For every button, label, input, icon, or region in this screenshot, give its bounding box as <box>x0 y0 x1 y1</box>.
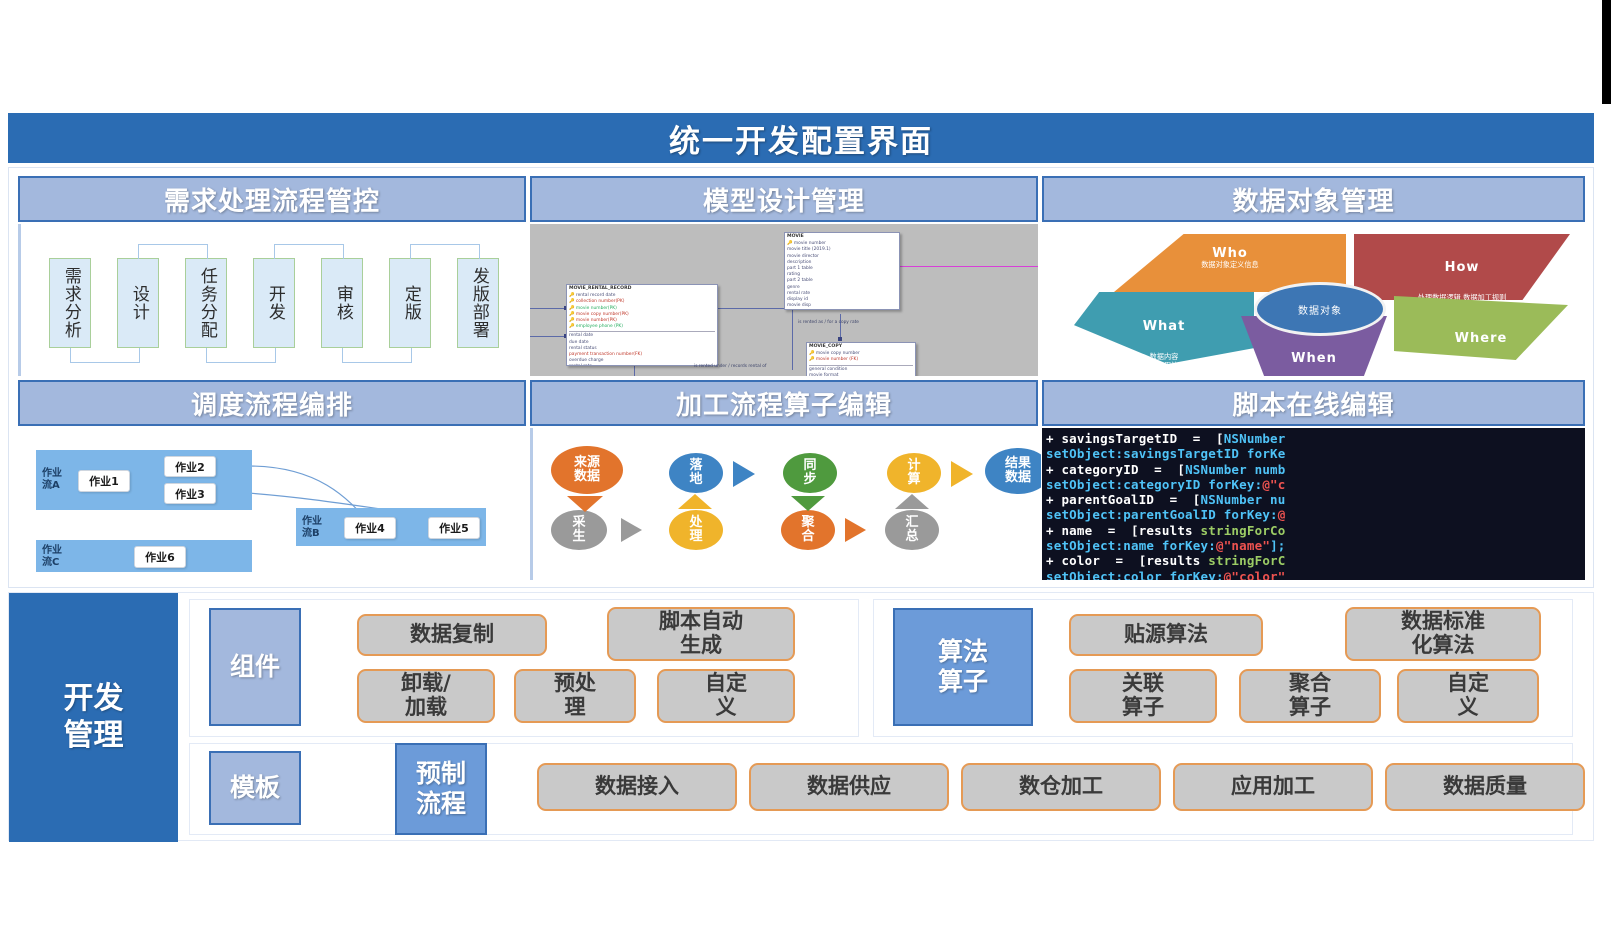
pie-chart: Who 数据对象定义信息 How 处理数据逻辑 数据加工规则 字段mapping… <box>1042 224 1585 376</box>
operator-node-source-data[interactable]: 来源 数据 <box>551 446 623 494</box>
flow-step-0-label: 需求分析 <box>61 267 79 339</box>
job-2[interactable]: 作业2 <box>164 456 216 477</box>
pie-segment-how-name: How <box>1354 260 1570 275</box>
flow-step-3[interactable]: 开发 <box>253 258 295 348</box>
flow-step-6-label: 发版部署 <box>469 267 487 339</box>
er-table-movie-rental-record[interactable]: MOVIE_RENTAL_RECORD 🔑 rental record date… <box>566 284 718 366</box>
flow-step-1[interactable]: 设计 <box>117 258 159 348</box>
flow-connector-0 <box>70 348 140 363</box>
er-relation-line-down <box>792 308 793 370</box>
flow-step-5-label: 定版 <box>401 285 419 321</box>
operator-node-aggregate[interactable]: 聚 合 <box>781 510 835 550</box>
component-item-4-label: 自定 义 <box>705 672 747 720</box>
flow-step-1-label: 设计 <box>129 285 147 321</box>
category-template[interactable]: 模板 <box>209 751 301 825</box>
algorithm-item-3-label: 聚合 算子 <box>1289 672 1331 720</box>
pie-segment-where[interactable]: Where 存放物理位置 Mapping关系 <box>1394 296 1568 360</box>
template-item-3-label: 应用加工 <box>1231 775 1315 799</box>
er-relation-line-pink <box>890 266 1038 267</box>
pie-segment-what-name: What <box>1074 319 1254 334</box>
page-title-text: 统一开发配置界面 <box>669 116 933 161</box>
flow-step-4[interactable]: 审核 <box>321 258 363 348</box>
panel-header-object-label: 数据对象管理 <box>1232 181 1394 218</box>
operator-node-source-data-label: 来源 数据 <box>574 456 600 483</box>
category-template-label: 模板 <box>230 773 280 803</box>
arrow-right-orange <box>845 518 866 542</box>
pie-segment-how[interactable]: How 处理数据逻辑 数据加工规则 字段mapping信息 数据流向关系 数据血… <box>1354 234 1570 300</box>
arrow-right-blue <box>733 461 755 487</box>
job-5-label: 作业5 <box>439 520 469 536</box>
pie-segment-what[interactable]: What 数据内容 数据用法 数据对象状态 质值流图 <box>1074 292 1254 364</box>
arrow-down-green <box>791 496 825 511</box>
script-editor-canvas[interactable]: + savingsTargetID = [NSNumber setObject:… <box>1042 428 1585 580</box>
operator-node-compute-label: 计 算 <box>907 459 920 486</box>
page-title: 统一开发配置界面 <box>8 113 1594 163</box>
operator-node-process[interactable]: 处 理 <box>669 510 723 550</box>
algorithm-item-4[interactable]: 自定 义 <box>1397 669 1539 723</box>
pie-center-text: 数据对象 <box>1298 302 1342 317</box>
er-table-title: MOVIE_RENTAL_RECORD <box>569 286 715 292</box>
dev-management-title-text: 开发 管理 <box>64 681 124 754</box>
component-item-1-label: 脚本自动 生成 <box>659 610 743 658</box>
category-components[interactable]: 组件 <box>209 608 301 726</box>
operator-node-landing-label: 落 地 <box>689 459 702 486</box>
job-3-label: 作业3 <box>175 486 205 502</box>
pie-segment-where-name: Where <box>1394 331 1568 346</box>
er-table-movie-copy[interactable]: MOVIE_COPY 🔑 movie copy number 🔑 movie n… <box>806 342 916 376</box>
er-relation-line-left2 <box>530 336 566 337</box>
flow-step-3-label: 开发 <box>265 285 283 321</box>
code-area[interactable]: + savingsTargetID = [NSNumber setObject:… <box>1042 428 1585 580</box>
pie-center-label: 数据对象 <box>1254 282 1386 336</box>
component-item-0[interactable]: 数据复制 <box>357 614 547 656</box>
model-er-canvas: MOVIE_RENTAL_RECORD 🔑 rental record date… <box>530 224 1038 376</box>
arrow-up-gray <box>895 494 929 509</box>
flow-step-2-label: 任务分配 <box>197 267 215 339</box>
component-item-4[interactable]: 自定 义 <box>657 669 795 723</box>
algorithm-item-0-label: 贴源算法 <box>1124 623 1208 647</box>
job-4-label: 作业4 <box>355 520 385 536</box>
operator-node-compute[interactable]: 计 算 <box>887 453 941 493</box>
panel-header-operator-label: 加工流程算子编辑 <box>676 385 892 422</box>
job-3[interactable]: 作业3 <box>164 483 216 504</box>
template-item-2-label: 数仓加工 <box>1019 775 1103 799</box>
component-item-1[interactable]: 脚本自动 生成 <box>607 607 795 661</box>
job-6[interactable]: 作业6 <box>134 546 186 568</box>
flow-step-0[interactable]: 需求分析 <box>49 258 91 348</box>
operator-node-process-label: 处 理 <box>689 516 702 543</box>
pie-segment-who-desc: 数据对象定义信息 <box>1114 261 1346 270</box>
dev-management-container: 开发 管理 组件 数据复制 脚本自动 生成 卸载/ 加载 预处 理 自定 义 算… <box>8 592 1594 841</box>
lane-c-label: 作业 流C <box>42 545 62 569</box>
pie-segment-where-desc: 存放物理位置 Mapping关系 <box>1394 365 1568 376</box>
operator-node-sync-label: 同 步 <box>803 459 816 486</box>
er-table-title: MOVIE <box>787 234 897 240</box>
pie-segment-what-desc: 数据内容 数据用法 数据对象状态 质值流图 <box>1074 353 1254 376</box>
panel-header-operator[interactable]: 加工流程算子编辑 <box>530 380 1038 426</box>
lane-a-label: 作业 流A <box>42 468 62 492</box>
component-item-3[interactable]: 预处 理 <box>514 669 636 723</box>
operator-node-landing[interactable]: 落 地 <box>669 453 723 493</box>
operator-canvas: 来源 数据 落 地 同 步 计 算 结果 数据 采 生 处 理 聚 合 汇 总 <box>530 428 1041 580</box>
template-item-2[interactable]: 数仓加工 <box>961 763 1161 811</box>
dev-management-title: 开发 管理 <box>9 593 178 842</box>
pie-segment-when-name: When <box>1218 351 1410 366</box>
requirement-flow-canvas: 需求分析 设计 任务分配 开发 审核 定版 发版部署 <box>18 224 529 376</box>
template-item-1[interactable]: 数据供应 <box>749 763 949 811</box>
operator-node-summary[interactable]: 汇 总 <box>885 510 939 550</box>
category-algorithm-label: 算法 算子 <box>938 637 988 697</box>
job-4[interactable]: 作业4 <box>344 517 396 539</box>
template-item-0-label: 数据接入 <box>595 775 679 799</box>
template-item-3[interactable]: 应用加工 <box>1173 763 1373 811</box>
pie-segment-who-name: Who <box>1114 246 1346 261</box>
operator-node-collect[interactable]: 采 生 <box>551 510 607 550</box>
operator-node-aggregate-label: 聚 合 <box>801 516 814 543</box>
operator-node-sync[interactable]: 同 步 <box>783 453 837 493</box>
arrow-up-yellow <box>678 494 712 509</box>
algorithm-item-3[interactable]: 聚合 算子 <box>1239 669 1381 723</box>
algorithm-item-2-label: 关联 算子 <box>1122 672 1164 720</box>
flow-connector-3 <box>274 244 344 259</box>
panel-header-script-label: 脚本在线编辑 <box>1232 385 1394 422</box>
template-item-4-label: 数据质量 <box>1443 775 1527 799</box>
arrow-right-yellow <box>951 461 973 487</box>
panel-header-object[interactable]: 数据对象管理 <box>1042 176 1585 222</box>
algorithm-item-1-label: 数据标准 化算法 <box>1401 610 1485 658</box>
panel-header-script[interactable]: 脚本在线编辑 <box>1042 380 1585 426</box>
component-item-2[interactable]: 卸载/ 加载 <box>357 669 495 723</box>
slide-canvas: 统一开发配置界面 需求处理流程管控 模型设计管理 数据对象管理 需求分析 设计 … <box>0 113 1594 841</box>
er-relation-line-left1 <box>530 308 566 309</box>
job-1-label: 作业1 <box>89 473 119 489</box>
panel-header-requirement[interactable]: 需求处理流程管控 <box>18 176 526 222</box>
flow-connector-4 <box>342 348 412 363</box>
er-relation-label-1: is rented as / for a copy rate <box>798 320 880 326</box>
data-object-canvas: Who 数据对象定义信息 How 处理数据逻辑 数据加工规则 字段mapping… <box>1042 224 1585 376</box>
flow-step-4-label: 审核 <box>333 285 351 321</box>
flow-step-6[interactable]: 发版部署 <box>457 258 499 348</box>
right-edge-bar <box>1602 0 1611 104</box>
arrow-right-gray <box>621 518 642 542</box>
panel-header-requirement-label: 需求处理流程管控 <box>164 181 380 218</box>
flow-connector-5 <box>410 244 480 259</box>
component-item-0-label: 数据复制 <box>410 623 494 647</box>
panel-header-schedule-label: 调度流程编排 <box>191 385 353 422</box>
flow-step-2[interactable]: 任务分配 <box>185 258 227 348</box>
category-algorithm[interactable]: 算法 算子 <box>893 608 1033 726</box>
er-table-title: MOVIE_COPY <box>809 344 913 350</box>
flow-connector-1 <box>138 244 208 259</box>
category-components-label: 组件 <box>230 652 280 682</box>
algorithm-item-2[interactable]: 关联 算子 <box>1069 669 1217 723</box>
template-item-4[interactable]: 数据质量 <box>1385 763 1585 811</box>
panel-header-model[interactable]: 模型设计管理 <box>530 176 1038 222</box>
category-preset-flow[interactable]: 预制 流程 <box>395 743 487 835</box>
algorithm-item-0[interactable]: 贴源算法 <box>1069 614 1263 656</box>
template-item-1-label: 数据供应 <box>807 775 891 799</box>
component-item-2-label: 卸载/ 加载 <box>401 672 451 720</box>
template-item-0[interactable]: 数据接入 <box>537 763 737 811</box>
panel-header-model-label: 模型设计管理 <box>703 181 865 218</box>
flow-connector-2 <box>206 348 276 363</box>
upper-panels-container: 需求处理流程管控 模型设计管理 数据对象管理 需求分析 设计 任务分配 开发 审… <box>8 167 1594 588</box>
job-5[interactable]: 作业5 <box>428 517 480 539</box>
flow-step-5[interactable]: 定版 <box>389 258 431 348</box>
operator-node-result-data-label: 结果 数据 <box>1005 457 1031 484</box>
er-endpoint-4 <box>838 337 842 341</box>
job-1[interactable]: 作业1 <box>78 470 130 492</box>
schedule-canvas: 作业 流A 作业1 作业2 作业3 作业 流B 作业4 作业5 作业 流C 作业… <box>18 428 526 580</box>
er-table-movie[interactable]: MOVIE 🔑 movie number movie title (2019.1… <box>784 232 900 310</box>
operator-node-result-data[interactable]: 结果 数据 <box>985 448 1041 494</box>
job-6-label: 作业6 <box>145 549 175 565</box>
operator-node-collect-label: 采 生 <box>572 516 585 543</box>
lane-b-label: 作业 流B <box>302 516 322 540</box>
category-preset-flow-label: 预制 流程 <box>416 759 466 819</box>
er-relation-line-mid <box>715 308 793 309</box>
algorithm-item-4-label: 自定 义 <box>1447 672 1489 720</box>
er-relation-label-2: is rented under / records rental of <box>694 364 786 370</box>
component-item-3-label: 预处 理 <box>554 672 596 720</box>
lane-a[interactable] <box>36 450 252 510</box>
algorithm-item-1[interactable]: 数据标准 化算法 <box>1345 607 1541 661</box>
operator-node-summary-label: 汇 总 <box>905 516 918 543</box>
arrow-down-orange <box>567 496 603 512</box>
job-2-label: 作业2 <box>175 459 205 475</box>
panel-header-schedule[interactable]: 调度流程编排 <box>18 380 526 426</box>
